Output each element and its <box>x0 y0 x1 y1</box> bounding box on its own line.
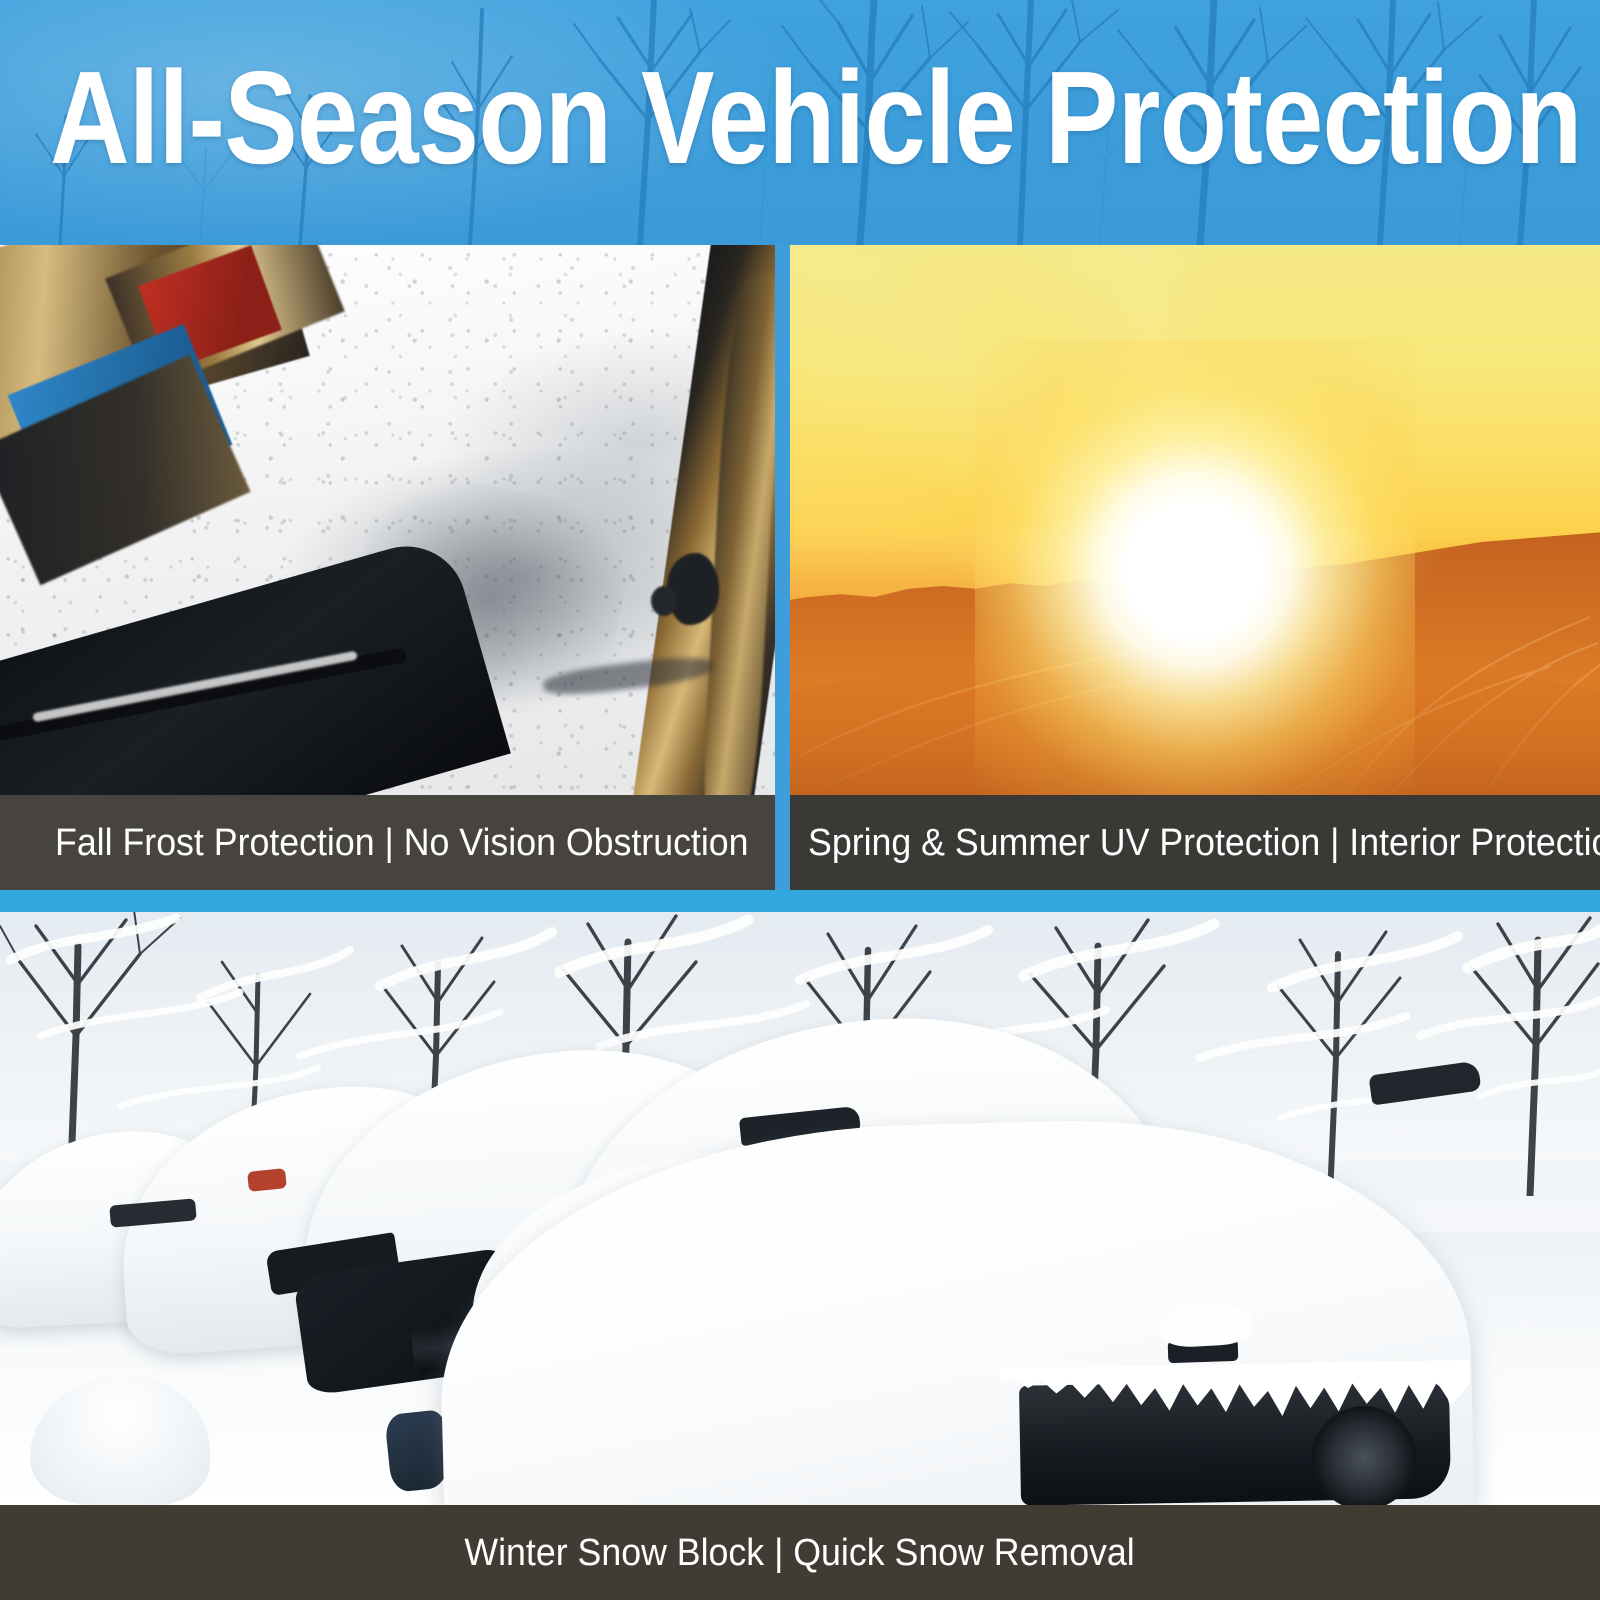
caption-text-winter: Winter Snow Block | Quick Snow Removal <box>465 1531 1135 1575</box>
caption-text-fall: Fall Frost Protection | No Vision Obstru… <box>55 821 749 865</box>
caption-bar-spring-summer: Spring & Summer UV Protection | Interior… <box>790 795 1600 890</box>
snow-covered-cars-image <box>0 912 1600 1505</box>
caption-bar-winter: Winter Snow Block | Quick Snow Removal <box>0 1505 1600 1600</box>
dark-spot-secondary <box>651 586 677 616</box>
dark-spot <box>667 553 719 625</box>
frost-windshield-image <box>0 245 775 795</box>
page-title: All-Season Vehicle Protection <box>50 52 1307 184</box>
product-feature-poster: All-Season Vehicle Protection <box>0 0 1600 1600</box>
feature-panel-row: Fall Frost Protection | No Vision Obstru… <box>0 245 1600 890</box>
car-wheel <box>1312 1406 1416 1505</box>
caption-bar-fall: Fall Frost Protection | No Vision Obstru… <box>0 795 775 890</box>
sun-glow <box>975 340 1415 796</box>
feature-panel-spring-summer: Spring & Summer UV Protection | Interior… <box>790 245 1600 890</box>
sunrise-image <box>790 245 1600 795</box>
tail-light-red <box>247 1168 287 1192</box>
header-banner: All-Season Vehicle Protection <box>0 0 1600 245</box>
feature-panel-fall: Fall Frost Protection | No Vision Obstru… <box>0 245 775 890</box>
caption-text-spring-summer: Spring & Summer UV Protection | Interior… <box>808 821 1600 865</box>
blue-divider-band <box>0 890 1600 912</box>
